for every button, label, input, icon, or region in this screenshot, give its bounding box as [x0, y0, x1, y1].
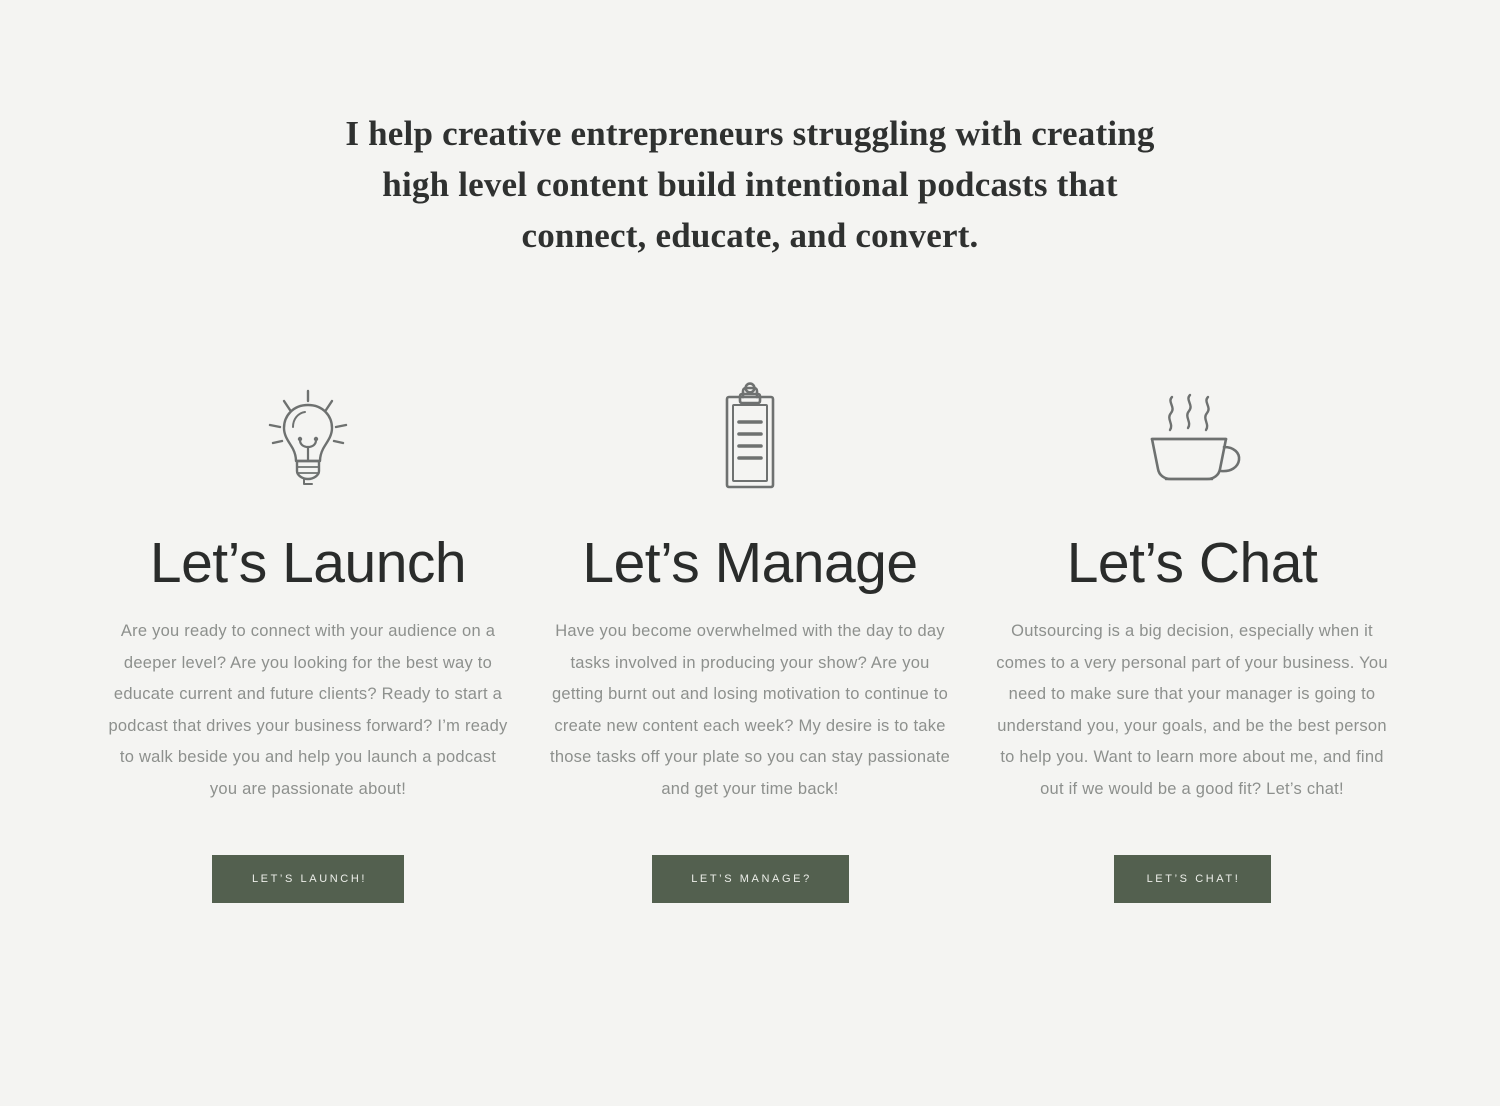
clipboard-icon [702, 372, 798, 502]
service-card-chat: Let’s Chat Outsourcing is a big decision… [982, 372, 1402, 903]
services-columns: Let’s Launch Are you ready to connect wi… [98, 372, 1402, 903]
headline-line-1: I help creative entrepreneurs struggling… [0, 108, 1500, 159]
lets-manage-button[interactable]: LET’S MANAGE? [652, 855, 849, 903]
service-card-manage: Let’s Manage Have you become overwhelmed… [540, 372, 960, 903]
service-title-launch: Let’s Launch [150, 532, 466, 594]
page-headline: I help creative entrepreneurs struggling… [0, 108, 1500, 261]
page-root: I help creative entrepreneurs struggling… [0, 0, 1500, 1106]
lightbulb-icon [260, 372, 356, 502]
coffee-cup-icon [1136, 372, 1248, 502]
service-title-chat: Let’s Chat [1067, 532, 1318, 594]
lets-launch-button[interactable]: LET’S LAUNCH! [212, 855, 404, 903]
lets-chat-button[interactable]: LET’S CHAT! [1114, 855, 1271, 903]
service-body-manage: Have you become overwhelmed with the day… [550, 616, 950, 805]
service-body-chat: Outsourcing is a big decision, especiall… [992, 616, 1392, 805]
headline-line-3: connect, educate, and convert. [0, 210, 1500, 261]
service-card-launch: Let’s Launch Are you ready to connect wi… [98, 372, 518, 903]
headline-line-2: high level content build intentional pod… [0, 159, 1500, 210]
service-title-manage: Let’s Manage [582, 532, 917, 594]
service-body-launch: Are you ready to connect with your audie… [108, 616, 508, 805]
